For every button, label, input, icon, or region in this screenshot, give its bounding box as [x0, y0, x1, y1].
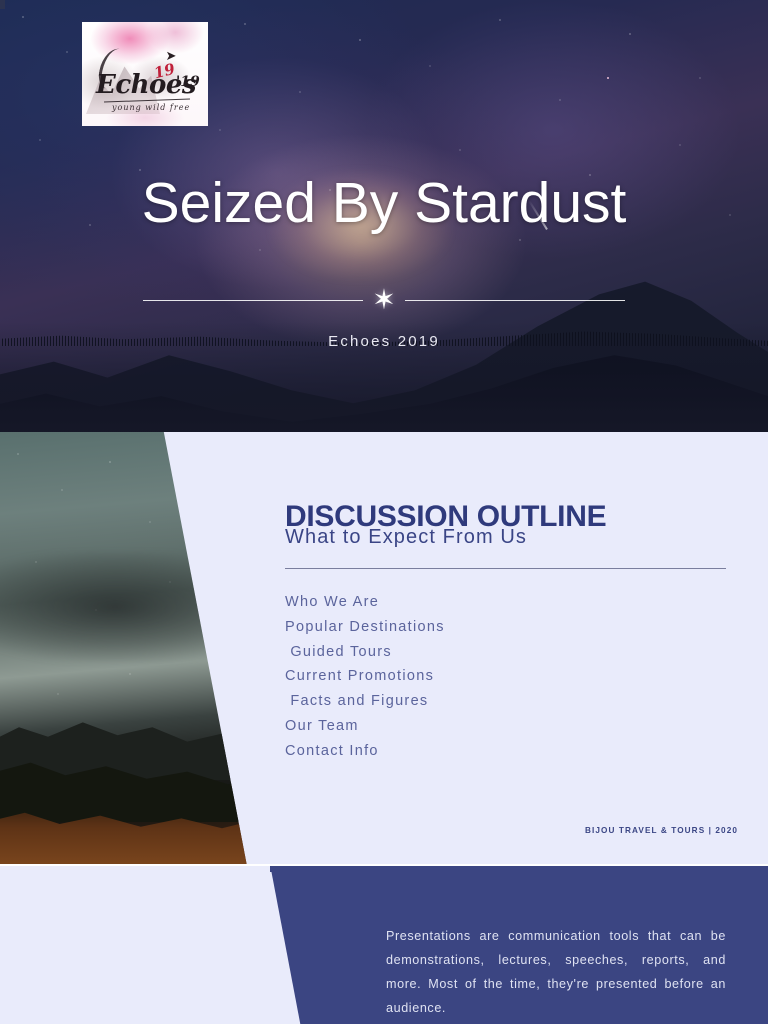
outline-subheading: What to Expect From Us [285, 526, 527, 549]
divider-line-left [143, 300, 363, 301]
logo-tagline: young wild free [112, 103, 190, 112]
list-item[interactable]: Guided Tours [285, 640, 705, 665]
list-item[interactable]: Facts and Figures [285, 689, 705, 714]
slide-separator [0, 864, 768, 866]
logo-year-suffix: '19 [176, 74, 200, 90]
list-item[interactable]: Our Team [285, 714, 705, 739]
list-item[interactable]: Who We Are [285, 590, 705, 615]
star-icon: ✶ [367, 286, 401, 314]
slide-who-we-are: Presentations are communication tools th… [0, 866, 768, 1024]
outline-list: Who We Are Popular Destinations Guided T… [285, 590, 705, 764]
title-divider: ✶ [0, 286, 768, 314]
outline-photo-cloud [0, 552, 260, 662]
list-item[interactable]: Contact Info [285, 739, 705, 764]
title-subtitle: Echoes 2019 [0, 333, 768, 350]
list-item[interactable]: Popular Destinations [285, 615, 705, 640]
divider-line-right [405, 300, 625, 301]
presentation-deck: ➤ 19 Echoes '19 young wild free Seized B… [0, 0, 768, 1024]
echoes-logo: ➤ 19 Echoes '19 young wild free [82, 22, 208, 126]
outline-side-photo [0, 432, 260, 866]
corner-artifact [0, 0, 5, 9]
page-title: Seized By Stardust [0, 171, 768, 236]
slide-title: ➤ 19 Echoes '19 young wild free Seized B… [0, 0, 768, 432]
slide-discussion-outline: DISCUSSION OUTLINE What to Expect From U… [0, 432, 768, 866]
who-body-text: Presentations are communication tools th… [386, 924, 726, 1021]
outline-footer-credit: BIJOU TRAVEL & TOURS | 2020 [585, 826, 738, 835]
mountain-silhouette [0, 232, 768, 432]
list-item[interactable]: Current Promotions [285, 664, 705, 689]
outline-divider [285, 568, 726, 569]
